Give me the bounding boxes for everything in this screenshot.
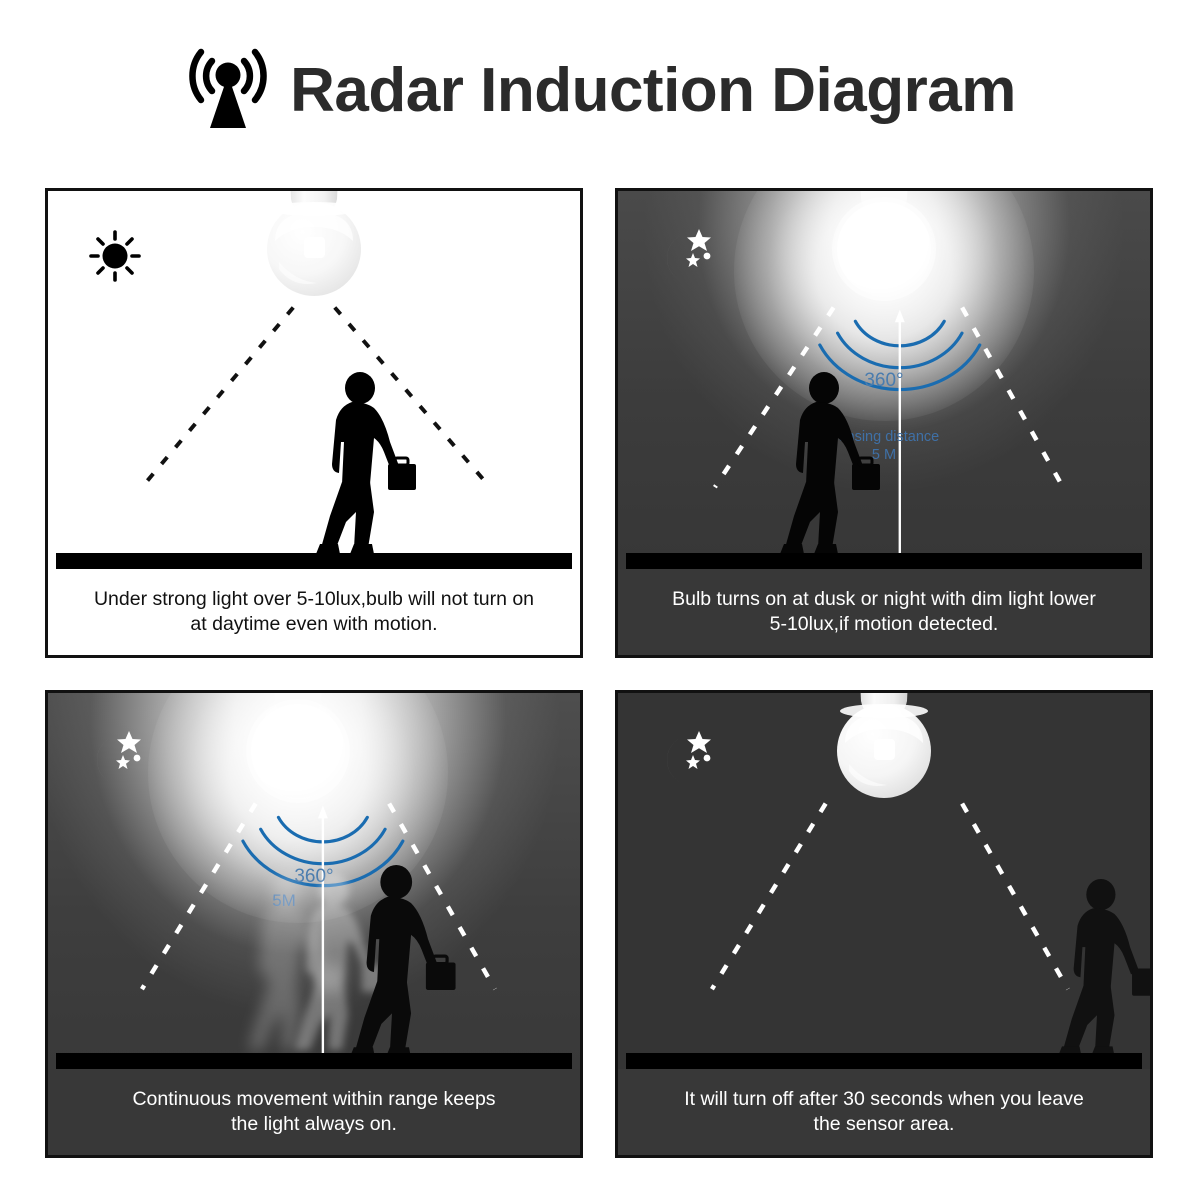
panel-daytime-off: Under strong light over 5-10lux,bulb wil… [45, 188, 583, 658]
caption-line-2: at daytime even with motion. [94, 612, 534, 637]
caption-line-2: 5-10lux,if motion detected. [672, 612, 1096, 637]
panel-caption: Continuous movement within range keeps t… [48, 1069, 580, 1155]
caption-line-1: Continuous movement within range keeps [132, 1087, 495, 1112]
panel-caption: Bulb turns on at dusk or night with dim … [618, 569, 1150, 655]
panel-caption: Under strong light over 5-10lux,bulb wil… [48, 569, 580, 655]
ground-bar [56, 553, 572, 569]
person-silhouette [328, 865, 456, 1061]
page-header: Radar Induction Diagram [0, 36, 1200, 146]
caption-line-2: the sensor area. [684, 1112, 1084, 1137]
ground-bar [626, 553, 1142, 569]
person-silhouette [760, 372, 880, 557]
ground-bar [626, 1053, 1142, 1069]
sensing-distance-value: 5 M [618, 447, 1150, 465]
radar-tower-icon [184, 45, 272, 137]
panel-caption: It will turn off after 30 seconds when y… [618, 1069, 1150, 1155]
angle-label: 360° [618, 369, 1150, 392]
person-silhouette [296, 372, 416, 557]
panel-continuous-motion: 360° 5M [45, 690, 583, 1158]
caption-line-1: Bulb turns on at dusk or night with dim … [672, 587, 1096, 612]
page-title: Radar Induction Diagram [290, 60, 1016, 122]
caption-line-1: It will turn off after 30 seconds when y… [684, 1087, 1084, 1112]
caption-line-1: Under strong light over 5-10lux,bulb wil… [94, 587, 534, 612]
sensing-distance-title: Sensing distance [618, 429, 1150, 447]
caption-line-2: the light always on. [132, 1112, 495, 1137]
person-silhouette-leaving [1038, 879, 1153, 1059]
panel-auto-off: It will turn off after 30 seconds when y… [615, 690, 1153, 1158]
panel-night-on: 360° Sensing distance 5 M Bulb turns on … [615, 188, 1153, 658]
ground-bar [56, 1053, 572, 1069]
